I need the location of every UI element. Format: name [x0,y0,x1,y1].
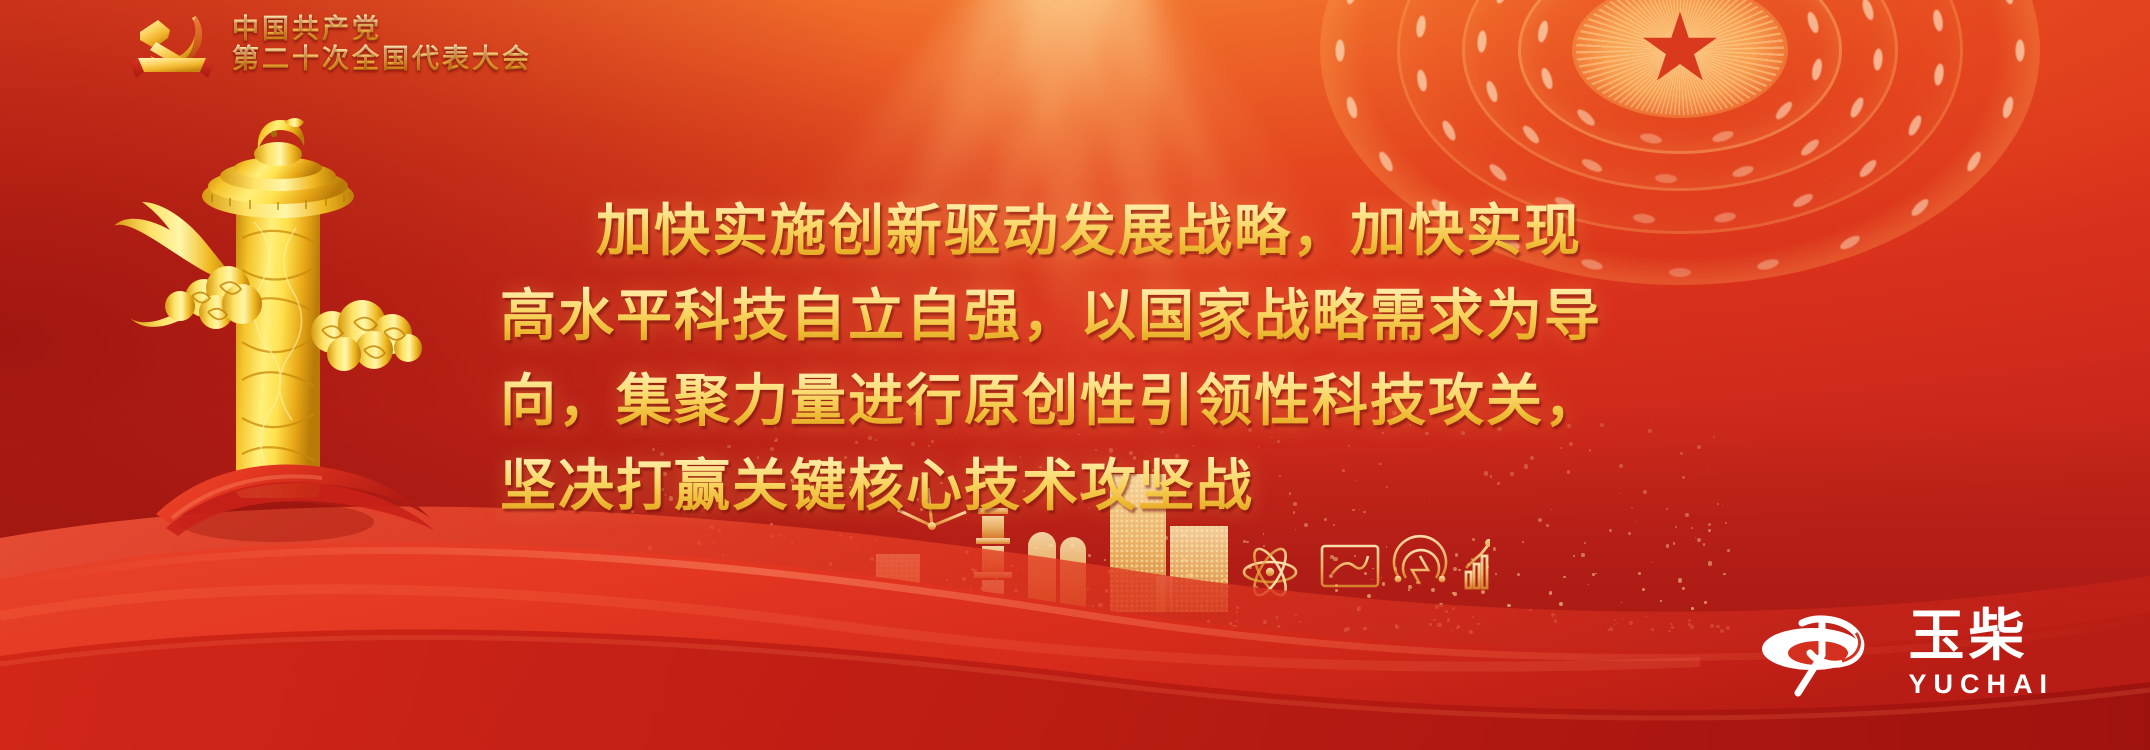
hammer-and-sickle-emblem [128,8,216,80]
golden-huabiao-column [108,110,448,550]
yuchai-ellipse-mark [1760,609,1888,697]
huabiao-shaft [236,202,320,498]
yuchai-name-en: YUCHAI [1908,671,2054,698]
yuchai-name-cn: 玉柴 [1908,608,2028,664]
party-congress-wordmark: 中国共产党 第二十次全国代表大会 [232,14,532,74]
yuchai-logo: 玉柴 YUCHAI [1760,608,2054,698]
party-name-line: 中国共产党 [232,14,532,44]
slogan-line-1: 加快实施创新驱动发展战略，加快实现 [500,188,1760,273]
huabiao-capital [202,157,354,218]
slogan-line-4: 坚决打赢关键核心技术攻坚战 [500,443,1760,528]
slogan-line-2: 高水平科技自立自强，以国家战略需求为导 [500,273,1760,358]
huabiao-cloud-right [311,300,422,371]
huabiao-hou-beast [254,118,304,166]
slogan-block: 加快实施创新驱动发展战略，加快实现 高水平科技自立自强，以国家战略需求为导 向，… [500,188,1760,528]
yuchai-wordmark: 玉柴 YUCHAI [1908,608,2054,698]
slogan-line-3: 向，集聚力量进行原创性引领性科技攻关， [500,358,1760,443]
congress-banner: 中国共产党 第二十次全国代表大会 加快实施创新驱动发展战略，加快实现 高水平科技… [0,0,2150,750]
congress-name-line: 第二十次全国代表大会 [232,44,532,74]
party-congress-logo: 中国共产党 第二十次全国代表大会 [128,8,532,80]
